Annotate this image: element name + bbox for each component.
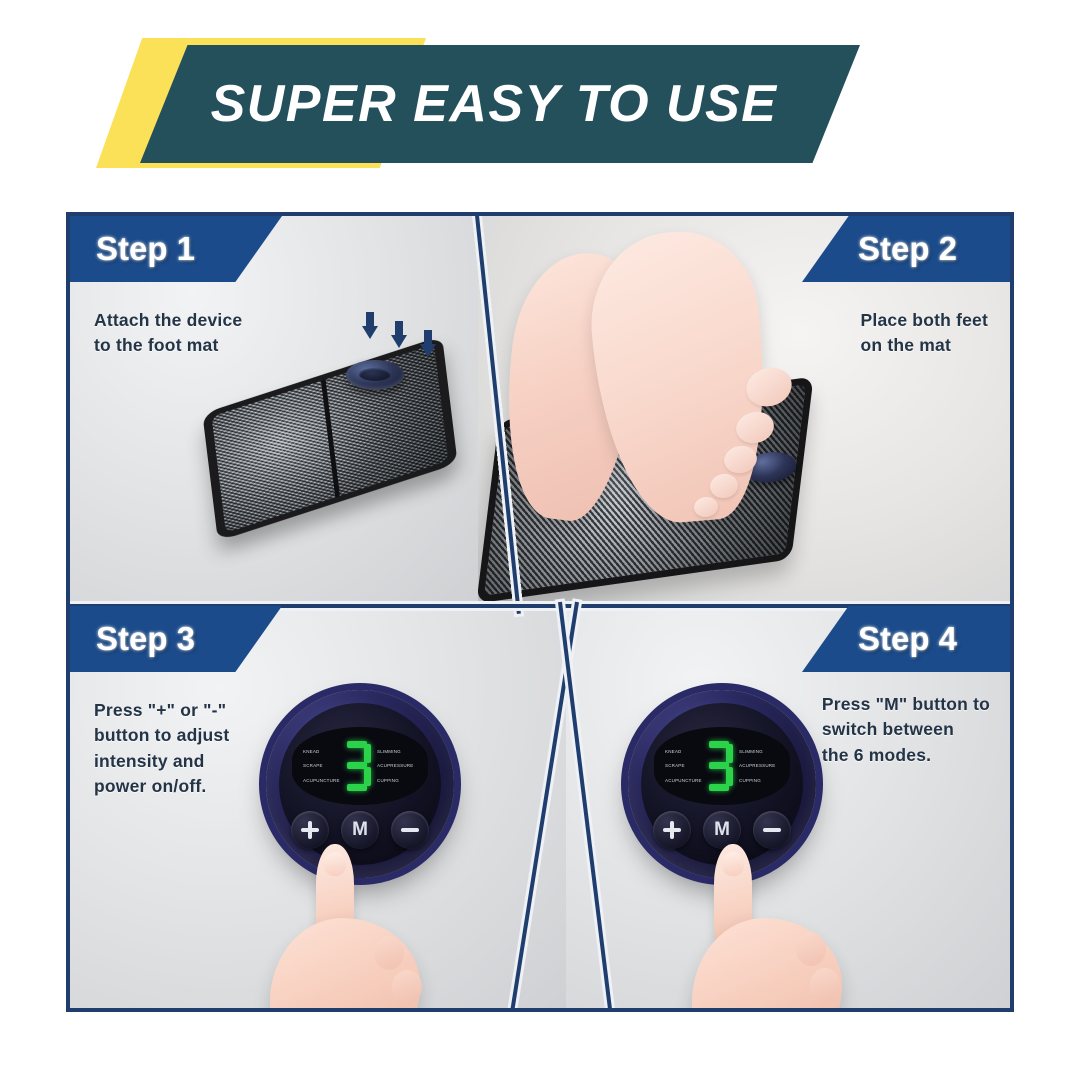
step-1-label: Step 1 <box>96 230 195 268</box>
step-1-caption: Attach the device to the foot mat <box>94 308 242 359</box>
mode-label: SLIMMING <box>739 749 763 754</box>
ems-controller-device <box>346 360 404 390</box>
mode-label: KNEAD <box>665 749 682 754</box>
step-3-label: Step 3 <box>96 620 195 658</box>
step-panel-2: Step 2 Place both feet on the mat <box>478 216 1014 606</box>
minus-button[interactable] <box>391 811 429 849</box>
step-panel-3: KNEAD SCRAPE ACUPUNCTURE SLIMMING ACUPRE… <box>70 606 566 1012</box>
intensity-level-digit <box>705 741 733 791</box>
steps-grid: Step 1 Attach the device to the foot mat… <box>66 212 1014 1012</box>
mode-button[interactable]: M <box>341 811 379 849</box>
step-2-label: Step 2 <box>858 230 957 268</box>
attach-direction-arrows <box>362 312 436 330</box>
mode-label: ACUPUNCTURE <box>303 778 340 783</box>
step-4-caption: Press "M" button to switch between the 6… <box>822 692 990 768</box>
controller-display: KNEAD SCRAPE ACUPUNCTURE SLIMMING ACUPRE… <box>654 727 790 805</box>
mode-labels-left: KNEAD SCRAPE ACUPUNCTURE <box>303 749 337 783</box>
mode-label: CUPPING <box>739 778 761 783</box>
ems-controller-device: KNEAD SCRAPE ACUPUNCTURE SLIMMING ACUPRE… <box>266 690 454 878</box>
knuckle <box>796 932 826 966</box>
fingernail <box>324 852 346 876</box>
mode-label: KNEAD <box>303 749 320 754</box>
fingernail <box>722 852 744 876</box>
mode-label: ACUPRESSURE <box>377 763 413 768</box>
knuckle <box>374 936 404 970</box>
intensity-level-digit <box>343 741 371 791</box>
knuckle <box>810 968 840 1002</box>
step-2-caption: Place both feet on the mat <box>861 308 988 359</box>
mode-label: ACUPRESSURE <box>739 763 775 768</box>
step-panel-1: Step 1 Attach the device to the foot mat <box>70 216 478 606</box>
mode-label: SLIMMING <box>377 749 401 754</box>
controller-display: KNEAD SCRAPE ACUPUNCTURE SLIMMING ACUPRE… <box>292 727 428 805</box>
foot-mat <box>202 336 457 541</box>
controller-buttons: M <box>279 811 441 849</box>
plus-button[interactable] <box>291 811 329 849</box>
mode-labels-left: KNEAD SCRAPE ACUPUNCTURE <box>665 749 699 783</box>
step-3-caption: Press "+" or "-" button to adjust intens… <box>94 698 229 800</box>
knuckle <box>392 970 422 1004</box>
mode-label: SCRAPE <box>303 763 323 768</box>
minus-button[interactable] <box>753 811 791 849</box>
plus-button[interactable] <box>653 811 691 849</box>
title-banner: SUPER EASY TO USE <box>0 0 1080 200</box>
mode-label: ACUPUNCTURE <box>665 778 702 783</box>
controller-face: KNEAD SCRAPE ACUPUNCTURE SLIMMING ACUPRE… <box>279 703 441 865</box>
step-4-label: Step 4 <box>858 620 957 658</box>
controller-face: KNEAD SCRAPE ACUPUNCTURE SLIMMING ACUPRE… <box>641 703 803 865</box>
mode-label: SCRAPE <box>665 763 685 768</box>
mode-labels-right: SLIMMING ACUPRESSURE CUPPING <box>377 749 417 783</box>
controller-buttons: M <box>641 811 803 849</box>
mode-labels-right: SLIMMING ACUPRESSURE CUPPING <box>739 749 779 783</box>
page-title: SUPER EASY TO USE <box>211 74 778 134</box>
mode-label: CUPPING <box>377 778 399 783</box>
step-panel-4: KNEAD SCRAPE ACUPUNCTURE SLIMMING ACUPRE… <box>566 606 1014 1012</box>
banner-teal-shape: SUPER EASY TO USE <box>140 45 860 163</box>
